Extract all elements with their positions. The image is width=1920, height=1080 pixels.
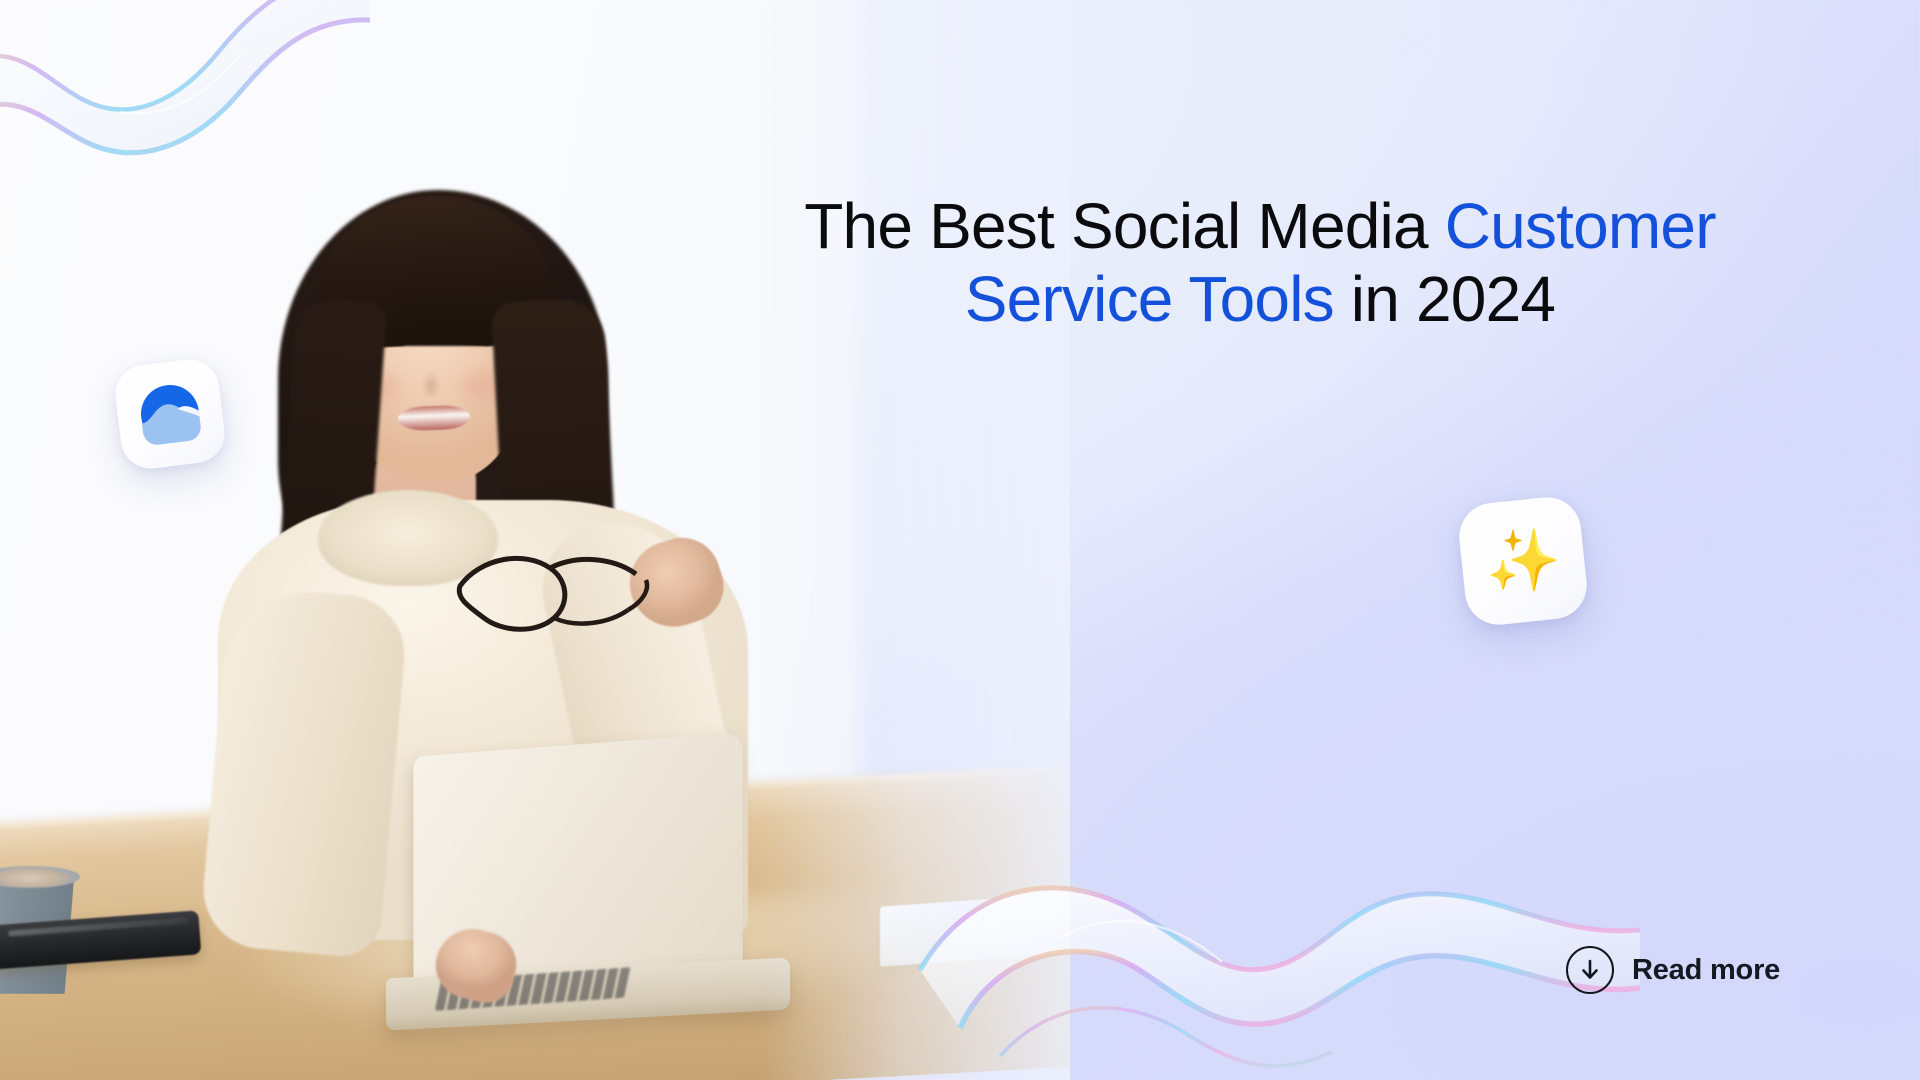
sparkles-icon[interactable]: ✨ bbox=[1456, 494, 1590, 628]
page-title: The Best Social Media Customer Service T… bbox=[760, 190, 1760, 336]
hero-photo bbox=[0, 0, 1070, 1080]
headline-line-1: The Best Social Media bbox=[804, 190, 1428, 262]
read-more-label: Read more bbox=[1632, 954, 1780, 987]
headline-line-2-tail: in bbox=[1334, 263, 1399, 335]
headline-year: 2024 bbox=[1416, 263, 1555, 335]
brand-wave-icon[interactable] bbox=[112, 356, 228, 472]
sparkles-glyph: ✨ bbox=[1486, 531, 1561, 591]
nose bbox=[420, 362, 442, 396]
arrow-down-glyph bbox=[1578, 958, 1602, 982]
arrow-down-circle-icon[interactable] bbox=[1566, 946, 1614, 994]
brand-wave-glyph bbox=[134, 378, 205, 449]
read-more-button[interactable]: Read more bbox=[1566, 946, 1780, 994]
photo-gradient-fade bbox=[760, 0, 1070, 1080]
eyeglasses bbox=[450, 540, 660, 660]
